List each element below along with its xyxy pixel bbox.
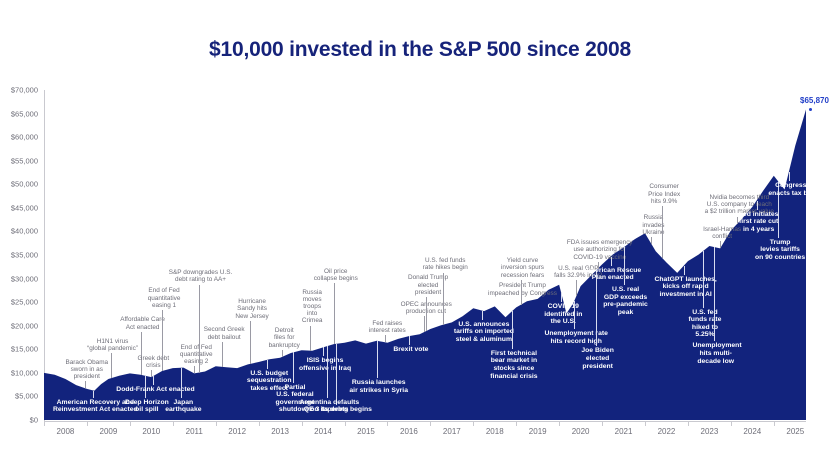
- chart-annotation: ISIS begins offensive in Iraq: [293, 357, 357, 372]
- x-axis-tick-label: 2008: [57, 427, 75, 436]
- x-axis-tick-mark: [44, 421, 45, 426]
- y-axis-tick-label: $55,000: [0, 156, 38, 165]
- chart-annotation: Fed raises interest rates: [362, 320, 413, 334]
- annotation-leader-line: [250, 321, 251, 364]
- annotation-leader-line: [199, 285, 200, 373]
- annotation-leader-line: [424, 316, 425, 332]
- chart-annotation: Dodd-Frank Act enacted: [115, 386, 197, 394]
- chart-annotation: Japan earthquake: [164, 399, 203, 414]
- chart-annotation: Unemployment rate hits record high: [544, 330, 608, 345]
- annotation-leader-line: [327, 346, 328, 398]
- chart-annotation: U.S. announces tariffs on imported steel…: [448, 321, 519, 344]
- x-axis: 2008200920102011201220132014201520162017…: [44, 421, 806, 451]
- y-axis-tick-label: $40,000: [0, 227, 38, 236]
- y-axis-tick-label: $25,000: [0, 298, 38, 307]
- chart-annotation: Hurricane Sandy hits New Jersey: [233, 298, 270, 320]
- y-axis-tick-label: $20,000: [0, 321, 38, 330]
- annotation-leader-line: [482, 311, 483, 320]
- annotation-leader-line: [310, 326, 311, 351]
- x-axis-tick-label: 2012: [228, 427, 246, 436]
- annotation-leader-line: [714, 247, 715, 342]
- chart-title: $10,000 invested in the S&P 500 since 20…: [0, 38, 840, 62]
- annotation-leader-line: [521, 280, 522, 305]
- annotation-leader-line: [111, 353, 112, 378]
- x-axis-tick-mark: [602, 421, 603, 426]
- y-axis-tick-label: $15,000: [0, 345, 38, 354]
- annotation-leader-line: [576, 280, 577, 296]
- annotation-leader-line: [334, 283, 335, 344]
- x-axis-tick-label: 2022: [658, 427, 676, 436]
- x-axis-tick-label: 2010: [142, 427, 160, 436]
- y-axis-tick-label: $35,000: [0, 251, 38, 260]
- chart-annotation: Argentina defaults on its debts: [296, 399, 364, 414]
- annotation-leader-line: [153, 376, 154, 385]
- area-series: [44, 90, 806, 420]
- annotation-leader-line: [651, 237, 652, 244]
- y-axis-tick-label: $45,000: [0, 203, 38, 212]
- annotation-leader-line: [720, 241, 721, 248]
- chart-annotation: U.S. fed funds rate hiked to 5.25%: [685, 309, 724, 339]
- annotation-leader-line: [323, 347, 324, 356]
- chart-annotation: COVID-19 identified in the U.S.: [538, 303, 588, 326]
- plot-area: [44, 90, 806, 420]
- x-axis-tick-label: 2011: [186, 427, 203, 436]
- x-axis-tick-label: 2018: [486, 427, 504, 436]
- annotation-leader-line: [85, 381, 86, 388]
- chart-annotation: Joe Biden elected president: [580, 347, 616, 370]
- annotation-leader-line: [377, 341, 378, 379]
- x-axis-tick-mark: [173, 421, 174, 426]
- annotation-leader-line: [596, 271, 597, 347]
- annotation-leader-line: [512, 311, 513, 349]
- x-axis-tick-mark: [130, 421, 131, 426]
- annotation-leader-line: [336, 344, 337, 406]
- annotation-leader-line: [93, 391, 94, 398]
- chart-container: $10,000 invested in the S&P 500 since 20…: [0, 0, 840, 472]
- annotation-leader-line: [282, 350, 283, 357]
- x-axis-tick-mark: [774, 421, 775, 426]
- chart-annotation: End of Fed quantitative easing 1: [142, 287, 186, 309]
- annotation-leader-line: [443, 273, 444, 325]
- y-axis-tick-label: $60,000: [0, 133, 38, 142]
- x-axis-tick-mark: [259, 421, 260, 426]
- annotation-leader-line: [684, 266, 685, 275]
- y-axis: $0$5,000$10,000$15,000$20,000$25,000$30,…: [0, 90, 44, 420]
- chart-annotation: Trump levies tariffs on 90 countries: [752, 239, 809, 262]
- annotation-leader-line: [703, 251, 704, 308]
- x-axis-tick-mark: [387, 421, 388, 426]
- chart-annotation: S&P downgrades U.S. debt rating to AA+: [167, 269, 234, 283]
- x-axis-tick-mark: [688, 421, 689, 426]
- chart-annotation: U.S. fed funds rate hikes begin: [417, 257, 474, 271]
- chart-annotation: H1N1 virus “global pandemic”: [82, 338, 143, 352]
- annotation-leader-line: [561, 293, 562, 302]
- x-axis-tick-mark: [731, 421, 732, 426]
- x-axis-tick-mark: [645, 421, 646, 426]
- x-axis-tick-mark: [430, 421, 431, 426]
- y-axis-tick-label: $50,000: [0, 180, 38, 189]
- x-axis-tick-label: 2016: [400, 427, 418, 436]
- end-value-marker: [809, 108, 812, 111]
- chart-annotation: American Rescue Plan enacted: [584, 267, 641, 282]
- chart-annotation: Yield curve inversion spurs recession fe…: [496, 257, 550, 279]
- chart-annotation: Congress enacts tax bill: [762, 182, 819, 197]
- y-axis-tick-label: $65,000: [0, 109, 38, 118]
- annotation-leader-line: [611, 257, 612, 266]
- y-axis-tick-label: $5,000: [0, 392, 38, 401]
- chart-annotation: President Trump impeached by Congress: [486, 282, 560, 296]
- annotation-leader-line: [181, 368, 182, 398]
- x-axis-tick-mark: [516, 421, 517, 426]
- annotation-leader-line: [409, 336, 410, 345]
- annotation-leader-line: [267, 360, 268, 369]
- annotation-leader-line: [162, 310, 163, 371]
- x-axis-tick-label: 2014: [314, 427, 332, 436]
- chart-annotation: Russia moves troops into Crimea: [300, 289, 324, 325]
- chart-annotation: ChatGPT launches, kicks off rapid invest…: [654, 276, 718, 299]
- end-value-label: $65,870: [800, 96, 829, 105]
- y-axis-tick-label: $30,000: [0, 274, 38, 283]
- x-axis-tick-mark: [559, 421, 560, 426]
- annotation-leader-line: [789, 172, 790, 181]
- chart-annotation: U.S. real GDP exceeds pre-pandemic peak: [602, 286, 648, 316]
- x-axis-tick-mark: [345, 421, 346, 426]
- x-axis-tick-label: 2023: [701, 427, 719, 436]
- chart-annotation: Barack Obama sworn in as president: [65, 359, 109, 381]
- x-axis-tick-label: 2017: [443, 427, 461, 436]
- x-axis-tick-label: 2020: [572, 427, 590, 436]
- annotation-leader-line: [151, 370, 152, 377]
- chart-annotation: Detroit files for bankruptcy: [266, 327, 303, 349]
- y-axis-tick-label: $10,000: [0, 368, 38, 377]
- y-axis-tick-label: $0: [0, 416, 38, 425]
- annotation-leader-line: [662, 206, 663, 258]
- chart-annotation: End of Fed quantitative easing 2: [174, 344, 218, 366]
- annotation-leader-line: [222, 342, 223, 367]
- x-axis-tick-label: 2025: [786, 427, 804, 436]
- annotation-leader-line: [426, 297, 427, 331]
- x-axis-tick-label: 2015: [357, 427, 375, 436]
- x-axis-tick-mark: [87, 421, 88, 426]
- chart-annotation: Second Greek debt bailout: [202, 326, 246, 340]
- annotation-leader-line: [624, 247, 625, 285]
- x-axis-tick-label: 2021: [615, 427, 633, 436]
- x-axis-tick-label: 2013: [271, 427, 289, 436]
- chart-annotation: First technical bear market in stocks si…: [484, 350, 545, 380]
- y-axis-tick-label: $70,000: [0, 86, 38, 95]
- x-axis-tick-mark: [473, 421, 474, 426]
- annotation-leader-line: [385, 335, 386, 342]
- x-axis-tick-mark: [302, 421, 303, 426]
- x-axis-tick-label: 2024: [743, 427, 761, 436]
- chart-annotation: Greek debt crisis: [135, 355, 172, 369]
- annotation-leader-line: [757, 201, 758, 210]
- annotation-leader-line: [574, 301, 575, 329]
- chart-annotation: Brexit vote: [389, 346, 432, 354]
- x-axis-tick-label: 2019: [529, 427, 547, 436]
- annotation-leader-line: [194, 366, 195, 373]
- x-axis-tick-label: 2009: [99, 427, 117, 436]
- chart-annotation: Oil price collapse begins: [309, 268, 363, 282]
- x-axis-tick-mark: [216, 421, 217, 426]
- chart-annotation: Consumer Price Index hits 9.9%: [644, 183, 685, 205]
- chart-annotation: Unemployment hits multi- decade low: [692, 342, 738, 365]
- chart-annotation: Russia launches air strikes in Syria: [341, 379, 416, 394]
